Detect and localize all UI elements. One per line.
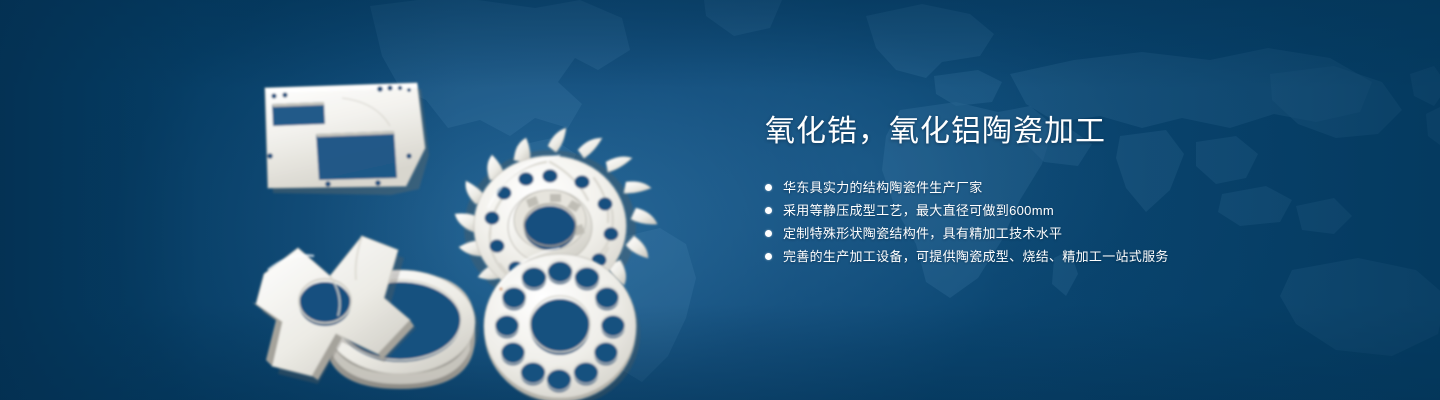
list-item: 完善的生产加工设备，可提供陶瓷成型、烧结、精加工一站式服务 <box>765 245 1365 268</box>
bullet-dot-icon <box>765 207 772 214</box>
ceramic-products-photo <box>230 38 720 400</box>
banner-copy: 氧化锆，氧化铝陶瓷加工 华东具实力的结构陶瓷件生产厂家 采用等静压成型工艺，最大… <box>765 112 1365 268</box>
feature-text: 采用等静压成型工艺，最大直径可做到600mm <box>783 199 1054 222</box>
list-item: 采用等静压成型工艺，最大直径可做到600mm <box>765 199 1365 222</box>
bullet-dot-icon <box>765 184 772 191</box>
feature-list: 华东具实力的结构陶瓷件生产厂家 采用等静压成型工艺，最大直径可做到600mm 定… <box>765 176 1365 268</box>
list-item: 定制特殊形状陶瓷结构件，具有精加工技术水平 <box>765 222 1365 245</box>
page-title: 氧化锆，氧化铝陶瓷加工 <box>765 112 1365 152</box>
bullet-dot-icon <box>765 230 772 237</box>
ceramic-plate-part <box>265 83 429 195</box>
feature-text: 华东具实力的结构陶瓷件生产厂家 <box>783 176 983 199</box>
hero-banner: 氧化锆，氧化铝陶瓷加工 华东具实力的结构陶瓷件生产厂家 采用等静压成型工艺，最大… <box>0 0 1440 400</box>
bullet-dot-icon <box>765 253 772 260</box>
feature-text: 完善的生产加工设备，可提供陶瓷成型、烧结、精加工一站式服务 <box>783 245 1169 268</box>
feature-text: 定制特殊形状陶瓷结构件，具有精加工技术水平 <box>783 222 1062 245</box>
list-item: 华东具实力的结构陶瓷件生产厂家 <box>765 176 1365 199</box>
